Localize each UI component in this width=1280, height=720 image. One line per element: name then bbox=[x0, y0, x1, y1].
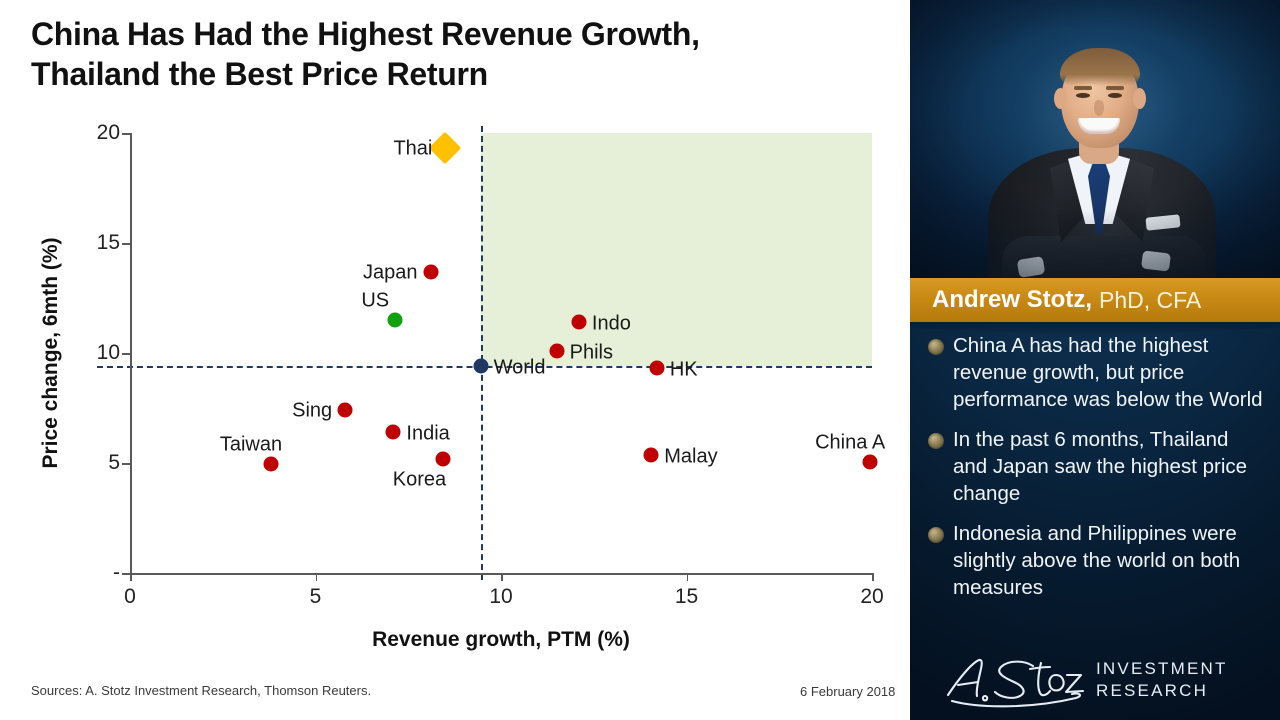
data-point-label-thai: Thai bbox=[393, 138, 432, 161]
data-point-japan[interactable] bbox=[423, 264, 438, 279]
scatter-plot: -510152005101520 ThaiJapanUSIndoPhilsWor… bbox=[130, 133, 872, 573]
profile-panel: Andrew Stotz, PhD, CFA China A has had t… bbox=[910, 0, 1280, 720]
x-tick-label: 20 bbox=[860, 585, 883, 609]
slide-date: 6 February 2018 bbox=[800, 684, 895, 699]
bullet-sphere-icon bbox=[928, 339, 944, 355]
x-tick-label: 15 bbox=[675, 585, 698, 609]
data-point-label-japan: Japan bbox=[363, 261, 418, 284]
company-logo: INVESTMENT RESEARCH bbox=[938, 650, 1268, 710]
y-tick-label: 5 bbox=[108, 451, 120, 475]
slide-root: China Has Had the Highest Revenue Growth… bbox=[0, 0, 1280, 720]
data-point-taiwan[interactable] bbox=[263, 457, 278, 472]
y-axis-line bbox=[130, 133, 132, 573]
a-stotz-signature-icon bbox=[938, 651, 1088, 709]
x-tick bbox=[687, 573, 689, 581]
title-line-1: China Has Had the Highest Revenue Growth… bbox=[31, 14, 891, 54]
y-tick bbox=[122, 243, 130, 245]
sources-note: Sources: A. Stotz Investment Research, T… bbox=[31, 683, 371, 698]
x-tick bbox=[501, 573, 503, 581]
world-revenue-reference-line bbox=[481, 126, 483, 580]
takeaway-item: Indonesia and Philippines were slightly … bbox=[928, 520, 1268, 601]
takeaway-text: China A has had the highest revenue grow… bbox=[953, 332, 1268, 413]
presenter-name: Andrew Stotz, bbox=[932, 286, 1092, 314]
y-tick bbox=[122, 133, 130, 135]
data-point-label-sing: Sing bbox=[292, 400, 332, 423]
data-point-india[interactable] bbox=[386, 425, 401, 440]
x-axis-title: Revenue growth, PTM (%) bbox=[130, 628, 872, 652]
data-point-hk[interactable] bbox=[649, 361, 664, 376]
data-point-label-phils: Phils bbox=[570, 341, 613, 364]
data-point-malay[interactable] bbox=[644, 448, 659, 463]
data-point-label-hk: HK bbox=[670, 359, 698, 382]
takeaway-item: In the past 6 months, Thailand and Japan… bbox=[928, 426, 1268, 507]
data-point-china-a[interactable] bbox=[863, 454, 878, 469]
data-point-label-indo: Indo bbox=[592, 313, 631, 336]
plot-area: -510152005101520 ThaiJapanUSIndoPhilsWor… bbox=[130, 133, 872, 573]
data-point-us[interactable] bbox=[388, 313, 403, 328]
logo-line-2: RESEARCH bbox=[1096, 680, 1228, 702]
y-tick-label: - bbox=[113, 561, 120, 585]
data-point-label-malay: Malay bbox=[664, 446, 717, 469]
data-point-label-korea: Korea bbox=[393, 468, 446, 491]
data-point-label-china-a: China A bbox=[815, 431, 885, 454]
presenter-credentials: PhD, CFA bbox=[1099, 287, 1201, 314]
data-point-indo[interactable] bbox=[571, 315, 586, 330]
data-point-sing[interactable] bbox=[338, 403, 353, 418]
portrait-photo bbox=[910, 0, 1280, 282]
logo-wordmark: INVESTMENT RESEARCH bbox=[1096, 658, 1228, 702]
x-tick bbox=[130, 573, 132, 581]
y-tick bbox=[122, 463, 130, 465]
takeaways-list: China A has had the highest revenue grow… bbox=[928, 332, 1268, 614]
chart-pane: China Has Had the Highest Revenue Growth… bbox=[0, 0, 910, 720]
title-line-2: Thailand the Best Price Return bbox=[31, 54, 891, 94]
y-tick-label: 15 bbox=[97, 231, 120, 255]
presenter-name-banner: Andrew Stotz, PhD, CFA bbox=[910, 278, 1280, 322]
x-tick-label: 0 bbox=[124, 585, 136, 609]
y-axis-title: Price change, 6mth (%) bbox=[38, 133, 64, 573]
page-title: China Has Had the Highest Revenue Growth… bbox=[31, 14, 891, 94]
y-tick-label: 20 bbox=[97, 121, 120, 145]
data-point-phils[interactable] bbox=[549, 343, 564, 358]
data-point-label-world: World bbox=[494, 357, 546, 380]
logo-line-1: INVESTMENT bbox=[1096, 658, 1228, 680]
data-point-korea[interactable] bbox=[436, 451, 451, 466]
y-tick-label: 10 bbox=[97, 341, 120, 365]
bullet-sphere-icon bbox=[928, 527, 944, 543]
takeaway-text: Indonesia and Philippines were slightly … bbox=[953, 520, 1268, 601]
highlight-quadrant bbox=[481, 133, 872, 366]
data-point-thai[interactable] bbox=[429, 132, 462, 165]
data-point-label-us: US bbox=[361, 290, 389, 313]
takeaway-item: China A has had the highest revenue grow… bbox=[928, 332, 1268, 413]
data-point-label-india: India bbox=[406, 423, 449, 446]
bullet-sphere-icon bbox=[928, 433, 944, 449]
y-tick bbox=[122, 573, 130, 575]
x-tick-label: 5 bbox=[310, 585, 322, 609]
x-tick bbox=[316, 573, 318, 581]
takeaway-text: In the past 6 months, Thailand and Japan… bbox=[953, 426, 1268, 507]
data-point-world[interactable] bbox=[473, 359, 488, 374]
y-tick bbox=[122, 353, 130, 355]
data-point-label-taiwan: Taiwan bbox=[220, 434, 282, 457]
x-tick bbox=[872, 573, 874, 581]
x-tick-label: 10 bbox=[489, 585, 512, 609]
